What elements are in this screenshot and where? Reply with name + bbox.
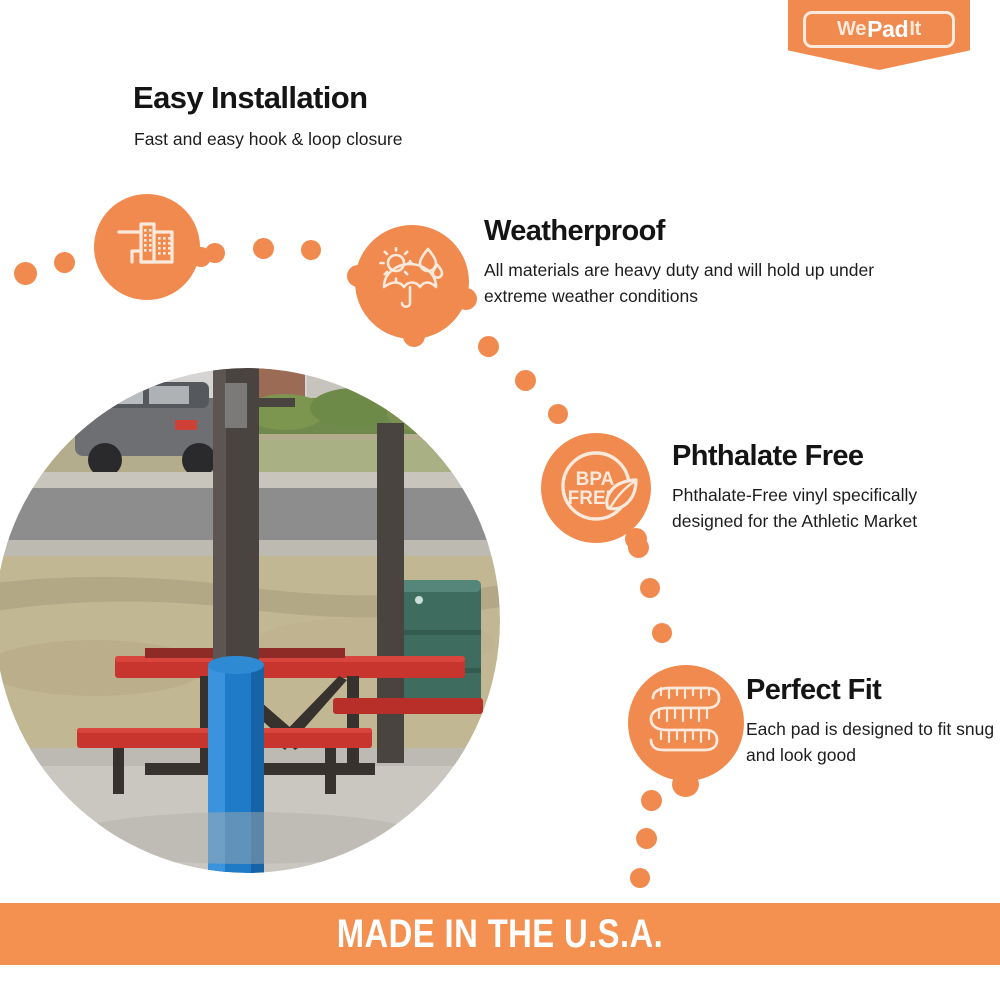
trail-dot xyxy=(301,240,321,260)
feature-title-easy-installation: Easy Installation xyxy=(133,80,367,116)
trail-dot xyxy=(515,370,536,391)
made-in-usa-text: MADE IN THE U.S.A. xyxy=(337,912,663,957)
product-photo xyxy=(0,368,500,873)
icon-perfect-fit[interactable] xyxy=(628,665,744,781)
trail-dot xyxy=(478,336,499,357)
feature-body-easy-installation: Fast and easy hook & loop closure xyxy=(134,126,554,152)
made-in-usa-banner: MADE IN THE U.S.A. xyxy=(0,903,1000,965)
measuring-tape-icon xyxy=(645,683,727,764)
trail-dot xyxy=(652,623,672,643)
product-photo-illustration xyxy=(0,368,500,873)
icon-phthalate-free[interactable]: BPA FREE xyxy=(541,433,651,543)
svg-text:BPA: BPA xyxy=(576,469,615,490)
trail-dot xyxy=(253,238,274,259)
logo-text-it: It xyxy=(909,18,921,41)
logo-text-pad: Pad xyxy=(866,16,909,43)
icon-weatherproof[interactable] xyxy=(355,225,469,339)
feature-body-weatherproof: All materials are heavy duty and will ho… xyxy=(484,257,914,309)
trail-dot xyxy=(54,252,75,273)
trail-dot xyxy=(14,262,37,285)
trail-dot xyxy=(548,404,568,424)
feature-body-phthalate-free: Phthalate-Free vinyl specifically design… xyxy=(672,482,972,534)
umbrella-sun-rain-icon xyxy=(374,247,450,318)
logo-text-we: We xyxy=(837,18,866,41)
trail-dot xyxy=(630,868,650,888)
feature-title-phthalate-free: Phthalate Free xyxy=(672,440,863,473)
trail-dot xyxy=(641,790,662,811)
brand-logo-banner[interactable]: WePadIt xyxy=(788,0,970,70)
feature-body-perfect-fit: Each pad is designed to fit snug and loo… xyxy=(746,716,996,768)
feature-title-perfect-fit: Perfect Fit xyxy=(746,674,881,707)
bpa-free-leaf-icon: BPA FREE xyxy=(548,438,644,539)
trail-dot xyxy=(640,578,660,598)
velcro-pad-icon xyxy=(116,218,178,277)
trail-dot xyxy=(636,828,657,849)
brand-logo-plate: WePadIt xyxy=(803,11,955,48)
icon-easy-installation[interactable] xyxy=(94,194,200,300)
feature-title-weatherproof: Weatherproof xyxy=(484,215,665,248)
